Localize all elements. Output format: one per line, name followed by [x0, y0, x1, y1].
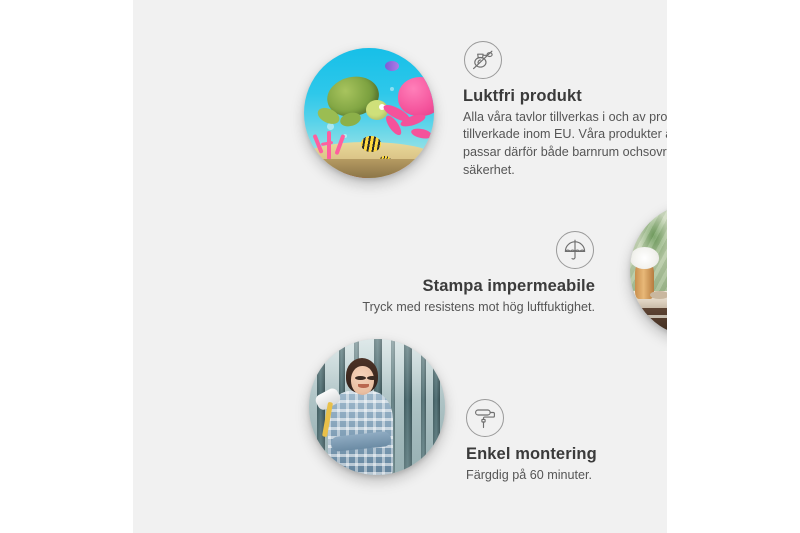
sea-floor-shadow [304, 159, 434, 179]
underwater-illustration [304, 48, 434, 178]
woman-smile [358, 384, 369, 388]
feature-odourless: Luktfri produkt Alla våra tavlor tillver… [463, 41, 667, 179]
forest-illustration [309, 339, 445, 475]
woman-face [351, 366, 374, 395]
feature-title: Stampa impermeabile [313, 276, 595, 297]
cartoon-underwater-scene-photo [304, 48, 434, 178]
umbrella-icon [556, 231, 594, 269]
coral [312, 126, 351, 160]
woman-eye [367, 376, 378, 380]
striped-fish [361, 136, 381, 152]
page-root: Luktfri produkt Alla våra tavlor tillver… [0, 0, 800, 533]
bathroom-tropical-wallpaper-photo [630, 203, 667, 337]
feature-body: Färgdig på 60 minuter. [466, 467, 667, 485]
octopus-head [398, 77, 434, 116]
bathroom-illustration [630, 203, 667, 337]
feature-installation: Enkel montering Färgdig på 60 minuter. [466, 399, 667, 484]
white-flowers [630, 247, 659, 268]
no-odour-spray-bottle-icon [464, 41, 502, 79]
feature-body: Tryck med resistens mot hög luftfuktighe… [313, 299, 595, 317]
feature-waterproof: Stampa impermeabile Tryck med resistens … [313, 231, 595, 316]
woman-with-paint-roller-photo [309, 339, 445, 475]
wood-cabinet [630, 308, 667, 337]
woman-eye [355, 376, 366, 380]
feature-title: Luktfri produkt [463, 86, 667, 107]
bubble [390, 87, 394, 91]
feature-body: Alla våra tavlor tillverkas i och av pro… [463, 109, 667, 180]
feature-title: Enkel montering [466, 444, 667, 465]
paint-roller-icon [466, 399, 504, 437]
content-panel: Luktfri produkt Alla våra tavlor tillver… [133, 0, 667, 533]
